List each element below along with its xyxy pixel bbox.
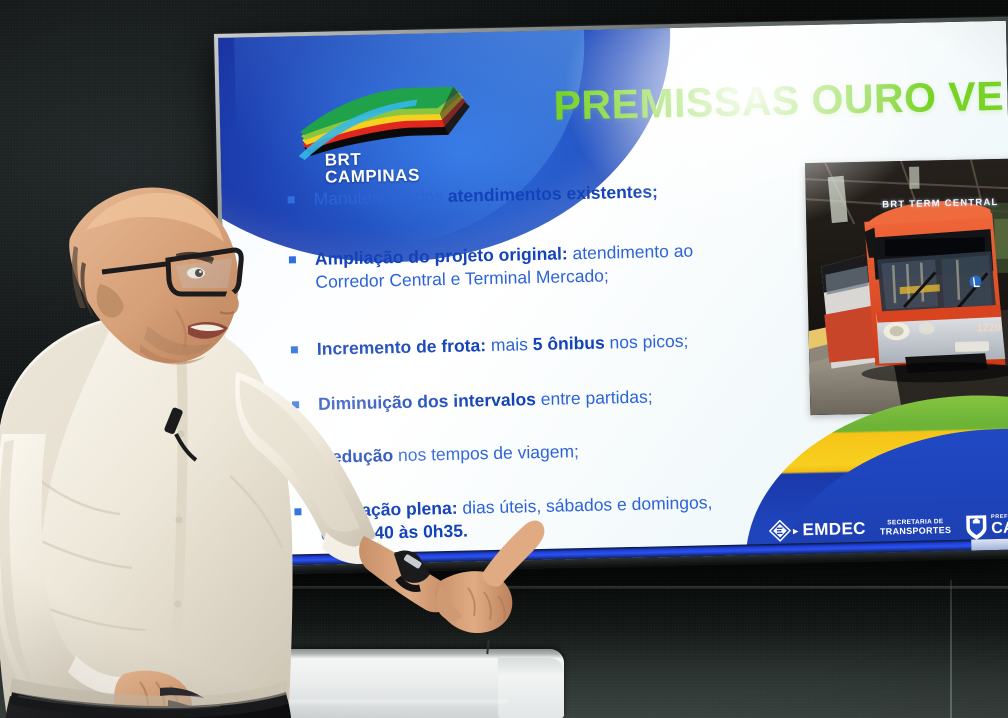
emdec-diamond-icon	[769, 520, 791, 542]
prefeitura-line2: CA	[991, 520, 1008, 537]
secretaria-transportes-logo: SECRETARIA DE TRANSPORTES	[880, 519, 952, 537]
emdec-logo: ▸ EMDEC	[769, 518, 866, 542]
slide-footer-logos: ▸ EMDEC SECRETARIA DE TRANSPORTES	[768, 501, 1008, 554]
emdec-wordmark: EMDEC	[802, 519, 866, 540]
screenshot-root: BRT CAMPINAS PREMISSAS OURO VE Manutençã…	[0, 0, 1008, 718]
wall-panel-joint	[950, 580, 952, 718]
presenter-index-finger	[482, 521, 544, 587]
prefeitura-campinas-logo: PREFEITURA DE CA	[965, 512, 1008, 541]
emdec-arrow-icon: ▸	[793, 524, 799, 537]
prefeitura-wordmark: PREFEITURA DE CA	[991, 514, 1008, 537]
shield-icon	[965, 513, 989, 540]
svg-text:1220: 1220	[976, 322, 1001, 335]
slide-bus-photo: 1220 BRT TERM CENTRAL	[805, 159, 1008, 416]
bus-destination-sign-text: BRT TERM CENTRAL	[882, 197, 999, 211]
presenter	[0, 176, 550, 718]
slide-title: PREMISSAS OURO VE	[553, 73, 1004, 130]
secretaria-line2: TRANSPORTES	[880, 526, 952, 537]
